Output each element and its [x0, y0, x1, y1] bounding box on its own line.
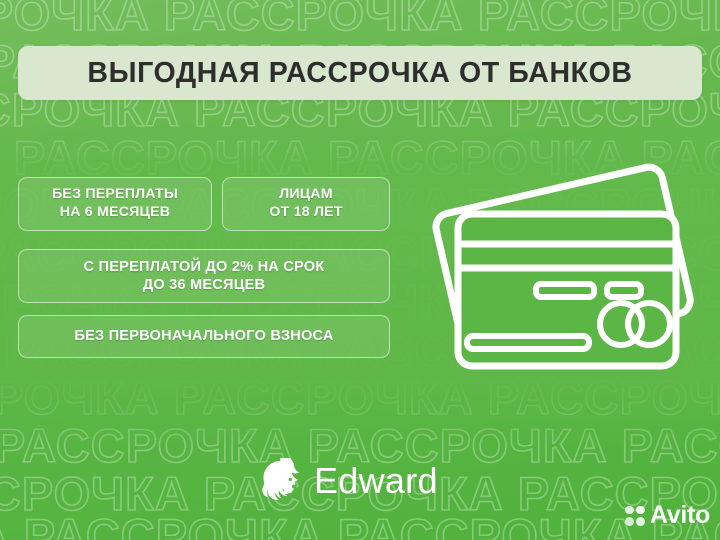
feature-label: БЕЗ ПЕРВОНАЧАЛЬНОГО ВЗНОСА: [74, 327, 333, 345]
feature-box: ЛИЦАМ ОТ 18 ЛЕТ: [222, 177, 390, 231]
credit-cards-illustration: [424, 158, 710, 394]
feature-label: БЕЗ ПЕРЕПЛАТЫ НА 6 МЕСЯЦЕВ: [52, 186, 178, 222]
lion-head-icon: [258, 458, 304, 504]
avito-label: Avito: [650, 501, 710, 530]
watermark-row: РАССРОЧКА РАССРОЧКА РАССРОЧКА РАССРОЧКА: [0, 0, 720, 37]
feature-box: БЕЗ ПЕРВОНАЧАЛЬНОГО ВЗНОСА: [18, 315, 390, 358]
avito-dots-icon: [625, 506, 645, 526]
avito-watermark: Avito: [625, 501, 710, 530]
feature-box: С ПЕРЕПЛАТОЙ ДО 2% НА СРОК ДО 36 МЕСЯЦЕВ: [18, 249, 390, 303]
credit-cards-icon: [424, 158, 710, 394]
feature-box: БЕЗ ПЕРЕПЛАТЫ НА 6 МЕСЯЦЕВ: [18, 177, 212, 231]
brand-logo: Edward: [258, 458, 438, 504]
feature-label: С ПЕРЕПЛАТОЙ ДО 2% НА СРОК ДО 36 МЕСЯЦЕВ: [84, 258, 325, 294]
promo-banner: РАССРОЧКА РАССРОЧКА РАССРОЧКА РАССРОЧКА …: [0, 0, 720, 540]
headline-bar: ВЫГОДНАЯ РАССРОЧКА ОТ БАНКОВ: [18, 46, 702, 100]
watermark-row: РАССРОЧКА РАССРОЧКА РАССРОЧКА РАССРОЧКА: [0, 512, 720, 540]
page-title: ВЫГОДНАЯ РАССРОЧКА ОТ БАНКОВ: [87, 57, 632, 90]
feature-label: ЛИЦАМ ОТ 18 ЛЕТ: [269, 186, 342, 222]
brand-name: Edward: [314, 460, 438, 502]
